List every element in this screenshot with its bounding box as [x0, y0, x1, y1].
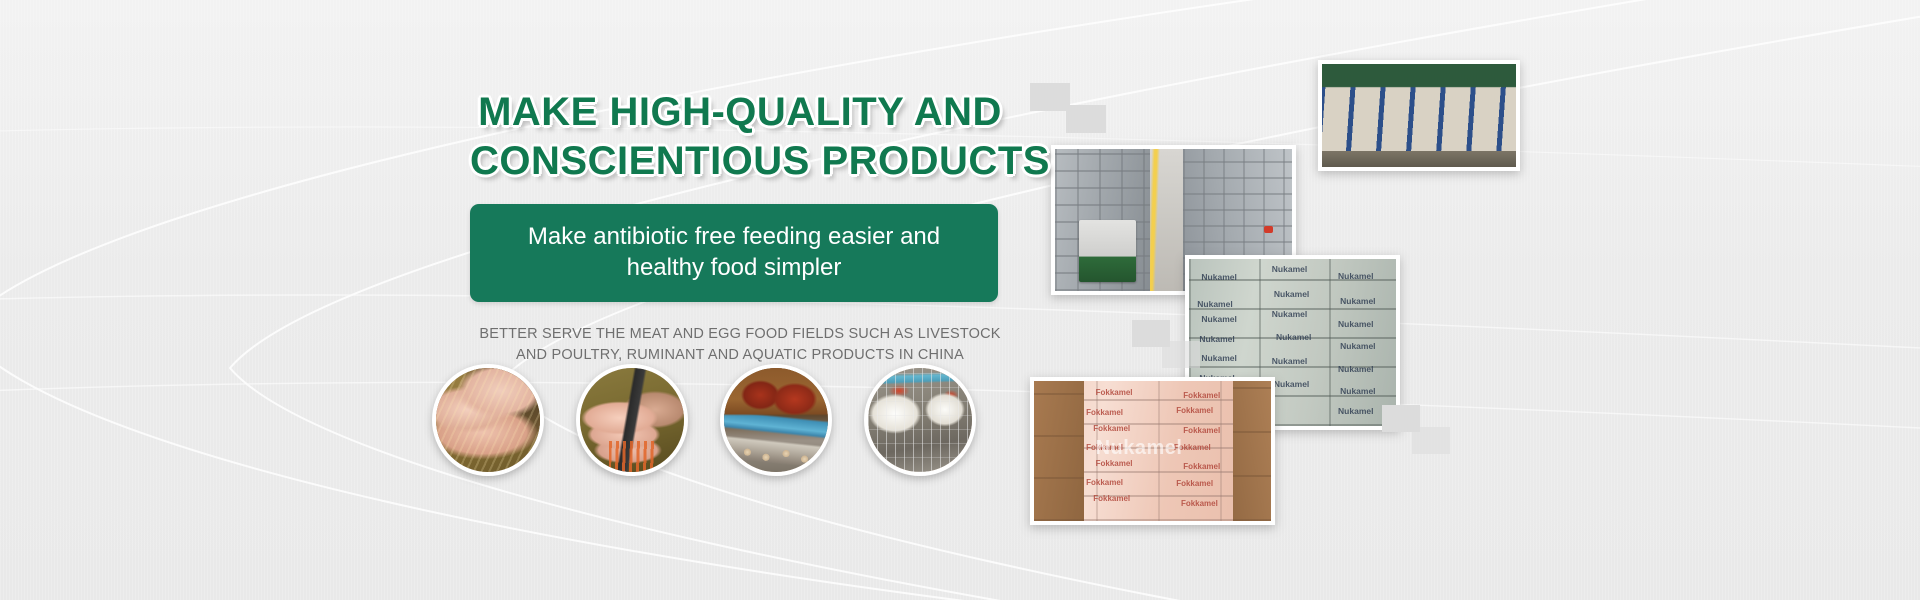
bag-label: Nukamel: [1201, 353, 1236, 363]
tote-cap-shape: [1264, 226, 1273, 233]
piglets-feeding-photo[interactable]: [576, 364, 688, 476]
nukamel-watermark: Nukamel: [1096, 437, 1183, 460]
forklift-shape: [1079, 220, 1136, 282]
bag-label: Nukamel: [1340, 341, 1375, 351]
bag-label: Fokkamel: [1086, 478, 1123, 487]
page-title: MAKE HIGH-QUALITY AND CONSCIENTIOUS PROD…: [470, 88, 1010, 186]
piglets-feeding-image: [580, 368, 684, 472]
caged-chickens-image: [868, 368, 972, 472]
pallet-sacks-image: [1322, 64, 1516, 167]
thumbnail-row: [432, 364, 976, 476]
product-photo-collage: Nukamel Nukamel Nukamel Nukamel Nukamel …: [1030, 55, 1500, 545]
bag-label: Nukamel: [1199, 334, 1234, 344]
decor-square-4: [1162, 341, 1200, 368]
subcopy-line-1: BETTER SERVE THE MEAT AND EGG FOOD FIELD…: [470, 324, 1010, 345]
laying-hens-image: [724, 368, 828, 472]
bag-label: Fokkamel: [1176, 406, 1213, 415]
tagline-box: Make antibiotic free feeding easier and …: [470, 204, 998, 302]
fokkamel-bag-stack-photo[interactable]: Fokkamel Fokkamel Fokkamel Fokkamel Fokk…: [1030, 377, 1275, 525]
headline-line-2: CONSCIENTIOUS PRODUCTS: [470, 137, 1010, 186]
bag-label: Fokkamel: [1086, 408, 1123, 417]
decor-square-6: [1412, 427, 1450, 454]
bag-label: Nukamel: [1276, 332, 1311, 342]
bag-label: Fokkamel: [1093, 494, 1130, 503]
bag-label: Fokkamel: [1183, 391, 1220, 400]
decor-square-1: [1030, 83, 1070, 111]
bag-label: Fokkamel: [1093, 424, 1130, 433]
bag-label: Nukamel: [1197, 299, 1232, 309]
bag-label: Fokkamel: [1096, 459, 1133, 468]
banner-subcopy: BETTER SERVE THE MEAT AND EGG FOOD FIELD…: [470, 324, 1010, 366]
pallet-sacks-photo[interactable]: [1318, 60, 1520, 171]
caged-chickens-photo[interactable]: [864, 364, 976, 476]
bag-label: Fokkamel: [1096, 388, 1133, 397]
bag-label: Nukamel: [1340, 386, 1375, 396]
bag-label: Nukamel: [1338, 406, 1373, 416]
headline-line-1: MAKE HIGH-QUALITY AND: [470, 88, 1010, 137]
bag-label: Nukamel: [1272, 356, 1307, 366]
bag-label: Nukamel: [1201, 314, 1236, 324]
subcopy-line-2: AND POULTRY, RUMINANT AND AQUATIC PRODUC…: [470, 345, 1010, 366]
bag-label: Nukamel: [1340, 296, 1375, 306]
bag-label: Fokkamel: [1176, 479, 1213, 488]
bag-label: Nukamel: [1272, 309, 1307, 319]
bag-label: Nukamel: [1338, 319, 1373, 329]
piglets-nursing-photo[interactable]: [432, 364, 544, 476]
tagline-line-2: healthy food simpler: [488, 252, 980, 283]
hero-banner: MAKE HIGH-QUALITY AND CONSCIENTIOUS PROD…: [0, 0, 1920, 600]
piglets-nursing-image: [436, 368, 540, 472]
bag-label: Nukamel: [1274, 289, 1309, 299]
banner-text-column: MAKE HIGH-QUALITY AND CONSCIENTIOUS PROD…: [470, 88, 1010, 366]
bag-label: Nukamel: [1201, 272, 1236, 282]
laying-hens-photo[interactable]: [720, 364, 832, 476]
bag-label: Nukamel: [1338, 364, 1373, 374]
bag-label: Nukamel: [1272, 264, 1307, 274]
bag-label: Nukamel: [1274, 379, 1309, 389]
bag-label: Fokkamel: [1183, 462, 1220, 471]
decor-square-2: [1066, 105, 1106, 133]
bag-label: Fokkamel: [1181, 499, 1218, 508]
tagline-line-1: Make antibiotic free feeding easier and: [488, 221, 980, 252]
bag-label: Fokkamel: [1183, 426, 1220, 435]
bag-label: Nukamel: [1338, 271, 1373, 281]
